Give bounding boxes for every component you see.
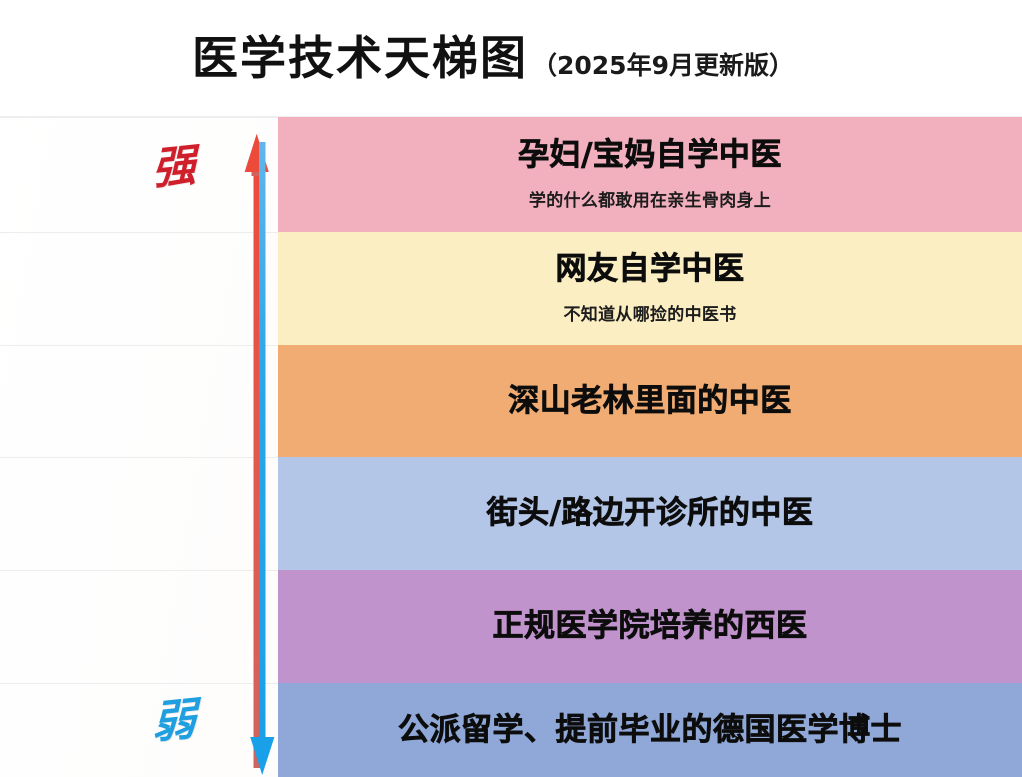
tier-title: 街头/路边开诊所的中医 bbox=[487, 496, 814, 531]
gridline-0 bbox=[0, 117, 278, 118]
tier-title: 孕妇/宝妈自学中医 bbox=[518, 138, 782, 173]
axis-label-strong: 强 bbox=[152, 144, 197, 193]
tier-row[interactable]: 正规医学院培养的西医 bbox=[278, 570, 1022, 683]
tier-title: 网友自学中医 bbox=[556, 252, 745, 287]
tier-subtitle: 学的什么都敢用在亲生骨肉身上 bbox=[529, 186, 771, 211]
tier-title: 公派留学、提前毕业的德国医学博士 bbox=[398, 713, 902, 748]
tier-row[interactable]: 网友自学中医不知道从哪捡的中医书 bbox=[278, 232, 1022, 345]
tier-rows: 孕妇/宝妈自学中医学的什么都敢用在亲生骨肉身上网友自学中医不知道从哪捡的中医书深… bbox=[278, 117, 1022, 777]
page-title: 医学技术天梯图 （2025年9月更新版） bbox=[192, 35, 794, 82]
tier-row[interactable]: 深山老林里面的中医 bbox=[278, 345, 1022, 457]
tier-row[interactable]: 孕妇/宝妈自学中医学的什么都敢用在亲生骨肉身上 bbox=[278, 117, 1022, 232]
tier-subtitle: 不知道从哪捡的中医书 bbox=[564, 300, 737, 325]
title-version-suffix: （2025年9月更新版） bbox=[532, 46, 794, 82]
tier-title: 正规医学院培养的西医 bbox=[493, 609, 808, 644]
arrow-down-icon bbox=[236, 132, 280, 777]
tier-row[interactable]: 街头/路边开诊所的中医 bbox=[278, 457, 1022, 570]
main-title-text: 医学技术天梯图 bbox=[192, 35, 528, 81]
tier-row[interactable]: 公派留学、提前毕业的德国医学博士 bbox=[278, 683, 1022, 777]
axis-label-weak: 弱 bbox=[152, 698, 197, 747]
page-title-bar: 医学技术天梯图 （2025年9月更新版） bbox=[0, 0, 1022, 117]
tier-title: 深山老林里面的中医 bbox=[508, 384, 792, 419]
tier-list-page: 医学技术天梯图 （2025年9月更新版） 强 弱 bbox=[0, 0, 1022, 777]
strength-axis-arrows bbox=[236, 132, 280, 777]
